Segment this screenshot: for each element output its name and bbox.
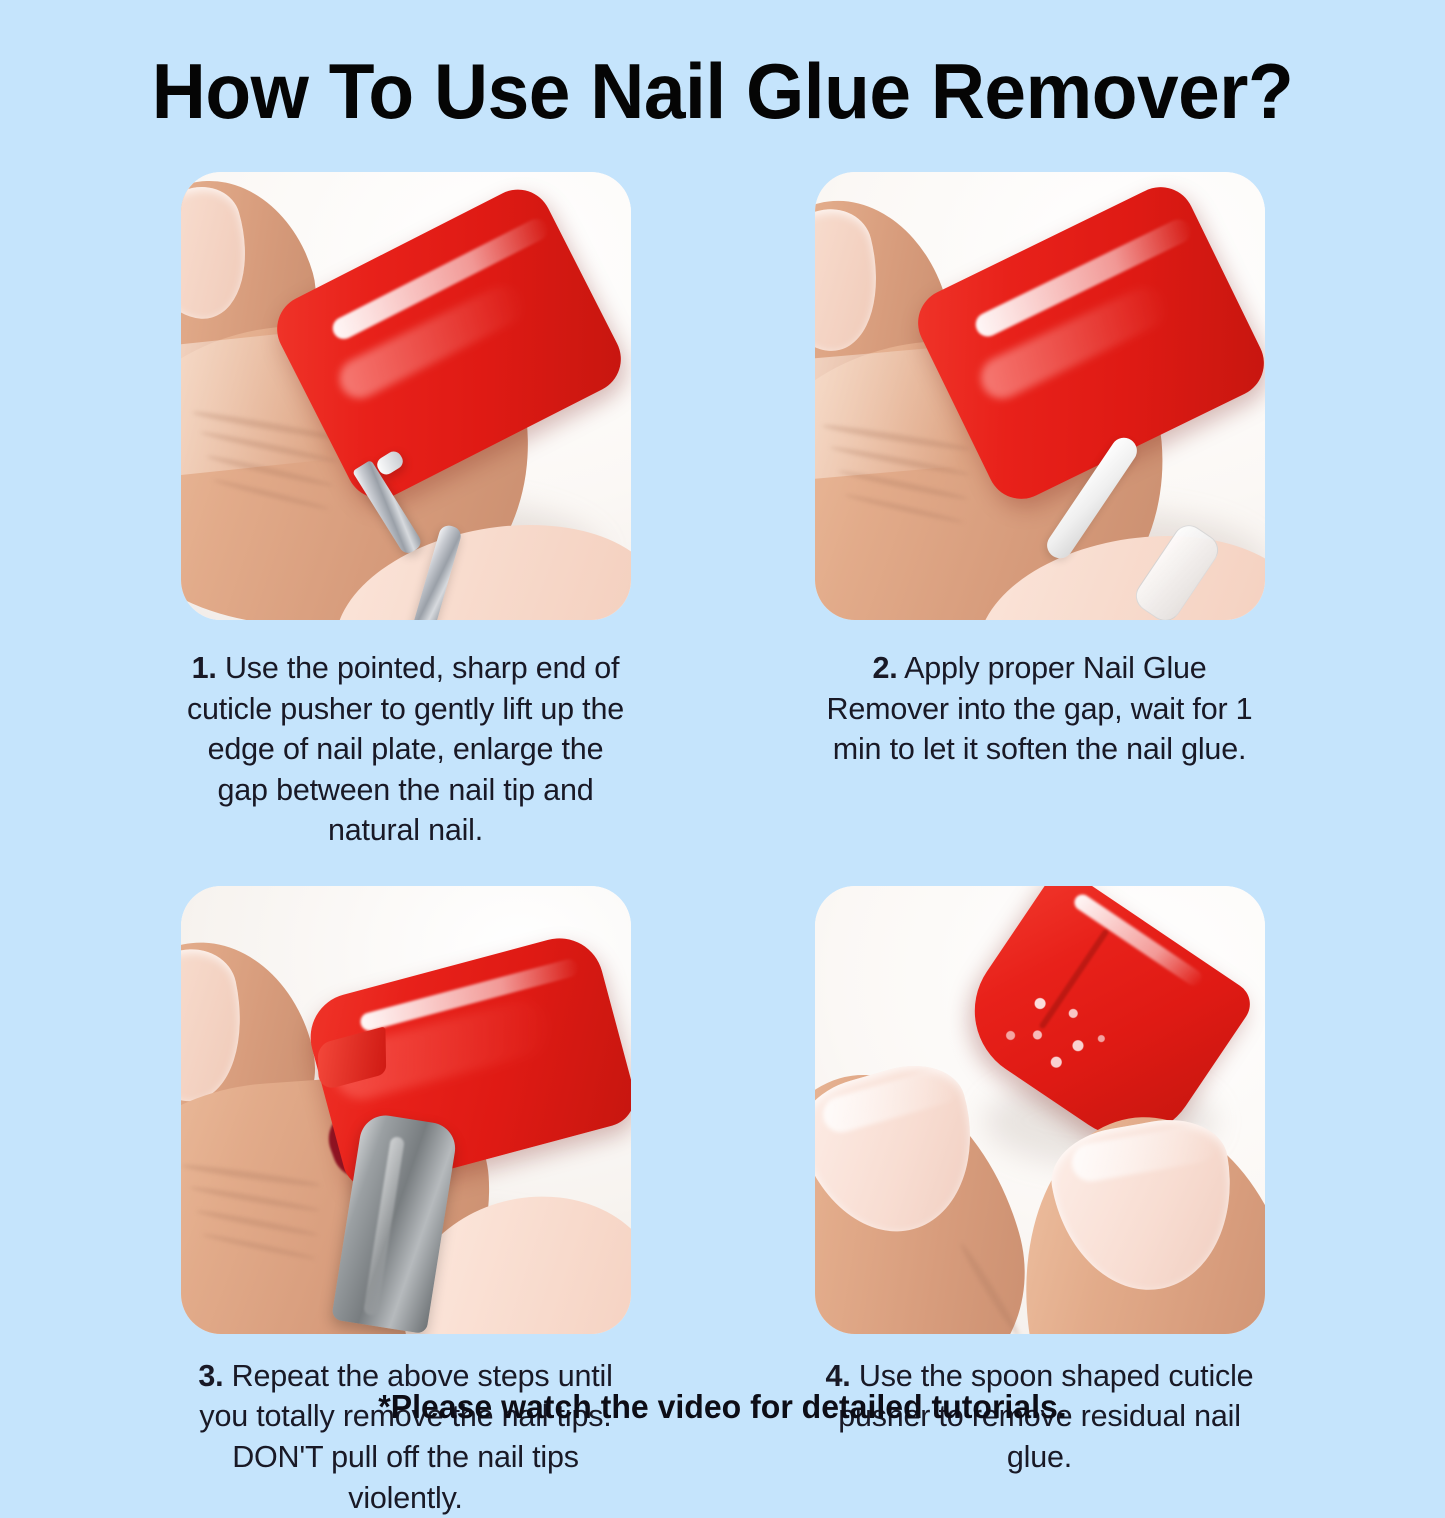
step-image-4 <box>815 886 1265 1334</box>
step-image-1 <box>181 172 631 620</box>
step-card-1: 1. Use the pointed, sharp end of cuticle… <box>181 172 631 851</box>
page-title: How To Use Nail Glue Remover? <box>29 46 1416 137</box>
step-caption-2: 2. Apply proper Nail Glue Remover into t… <box>815 648 1265 770</box>
step-caption-1: 1. Use the pointed, sharp end of cuticle… <box>181 648 631 851</box>
step-image-2 <box>815 172 1265 620</box>
steps-grid: 1. Use the pointed, sharp end of cuticle… <box>0 172 1445 1518</box>
step-number-1: 1. <box>192 651 217 685</box>
step-caption-3: 3. Repeat the above steps until you tota… <box>181 1356 631 1518</box>
footer-note: *Please watch the video for detailed tut… <box>22 1388 1424 1426</box>
steps-row-top: 1. Use the pointed, sharp end of cuticle… <box>0 172 1445 851</box>
step-number-2: 2. <box>872 651 897 685</box>
infographic-page: How To Use Nail Glue Remover? <box>0 0 1445 1445</box>
step-text-3: Repeat the above steps until you totally… <box>199 1359 612 1515</box>
step-text-1: Use the pointed, sharp end of cuticle pu… <box>187 651 624 847</box>
step-card-2: 2. Apply proper Nail Glue Remover into t… <box>815 172 1265 851</box>
step-image-3 <box>181 886 631 1334</box>
